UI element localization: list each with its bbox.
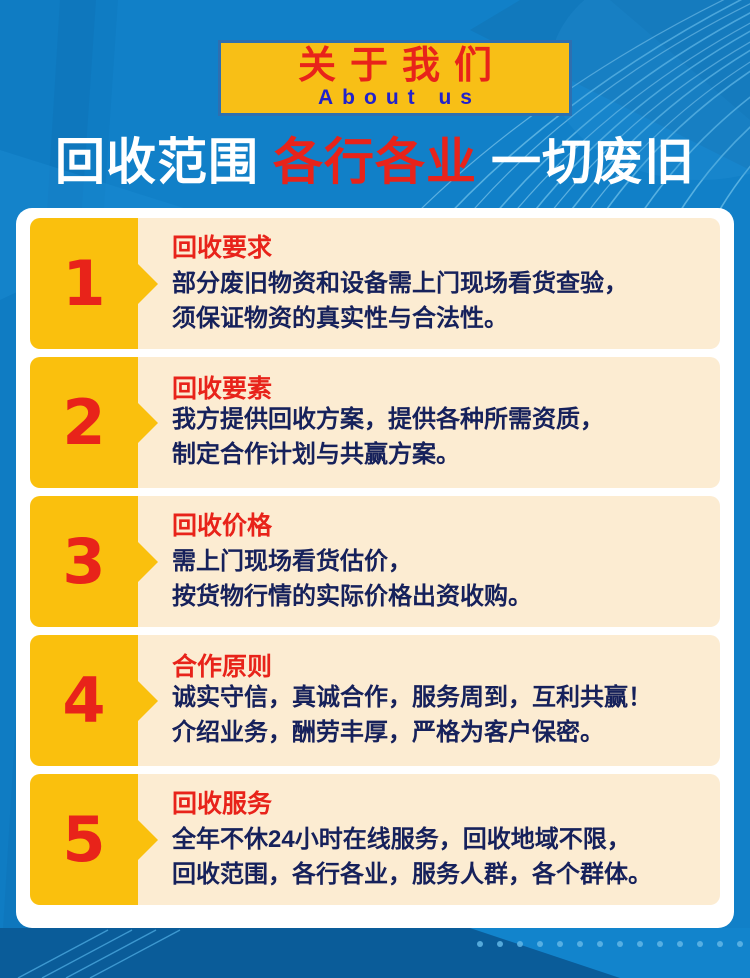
item-number: 3 — [62, 531, 105, 593]
headline-part-3: 一切废旧 — [491, 134, 695, 190]
item-body: 回收服务 全年不休24小时在线服务，回收地域不限， 回收范围，各行各业，服务人群… — [138, 774, 720, 905]
item-title: 回收价格 — [172, 510, 706, 543]
number-badge: 1 — [30, 218, 138, 349]
item-line: 诚实守信，真诚合作，服务周到，互利共赢！ — [172, 680, 706, 715]
list-item: 1 回收要求 部分废旧物资和设备需上门现场看货查验， 须保证物资的真实性与合法性… — [30, 218, 720, 349]
item-lines: 我方提供回收方案，提供各种所需资质， 制定合作计划与共赢方案。 — [172, 402, 706, 472]
item-body: 合作原则 诚实守信，真诚合作，服务周到，互利共赢！ 介绍业务，酬劳丰厚，严格为客… — [138, 635, 720, 766]
item-number: 1 — [62, 253, 105, 315]
item-number: 4 — [62, 670, 105, 732]
list-item: 3 回收价格 需上门现场看货估价， 按货物行情的实际价格出资收购。 — [30, 496, 720, 627]
items-list: 1 回收要求 部分废旧物资和设备需上门现场看货查验， 须保证物资的真实性与合法性… — [30, 218, 720, 905]
title-chinese: 关于我们 — [221, 44, 569, 88]
item-lines: 部分废旧物资和设备需上门现场看货查验， 须保证物资的真实性与合法性。 — [172, 266, 706, 336]
item-line: 须保证物资的真实性与合法性。 — [172, 301, 706, 336]
item-number: 5 — [62, 809, 105, 871]
list-item: 2 回收要素 我方提供回收方案，提供各种所需资质， 制定合作计划与共赢方案。 — [30, 357, 720, 488]
arrow-right-icon — [137, 680, 158, 722]
item-body: 回收要素 我方提供回收方案，提供各种所需资质， 制定合作计划与共赢方案。 — [138, 357, 720, 488]
item-line: 制定合作计划与共赢方案。 — [172, 437, 706, 472]
item-lines: 需上门现场看货估价， 按货物行情的实际价格出资收购。 — [172, 544, 706, 614]
list-item: 4 合作原则 诚实守信，真诚合作，服务周到，互利共赢！ 介绍业务，酬劳丰厚，严格… — [30, 635, 720, 766]
item-line: 部分废旧物资和设备需上门现场看货查验， — [172, 266, 706, 301]
item-line: 按货物行情的实际价格出资收购。 — [172, 579, 706, 614]
item-line: 我方提供回收方案，提供各种所需资质， — [172, 402, 706, 437]
number-badge: 4 — [30, 635, 138, 766]
page-headline: 回收范围各行各业一切废旧 — [0, 131, 750, 193]
item-body: 回收价格 需上门现场看货估价， 按货物行情的实际价格出资收购。 — [138, 496, 720, 627]
title-box: 关于我们 About us — [218, 40, 572, 116]
headline-part-1: 回收范围 — [55, 134, 259, 190]
item-body: 回收要求 部分废旧物资和设备需上门现场看货查验， 须保证物资的真实性与合法性。 — [138, 218, 720, 349]
number-badge: 5 — [30, 774, 138, 905]
item-lines: 全年不休24小时在线服务，回收地域不限， 回收范围，各行各业，服务人群，各个群体… — [172, 822, 706, 892]
item-line: 全年不休24小时在线服务，回收地域不限， — [172, 822, 706, 857]
item-title: 回收要求 — [172, 232, 706, 265]
about-us-poster: 关于我们 About us 回收范围各行各业一切废旧 1 回收要求 部分废旧物资… — [0, 0, 750, 978]
arrow-right-icon — [137, 263, 158, 305]
arrow-right-icon — [137, 819, 158, 861]
item-line: 介绍业务，酬劳丰厚，严格为客户保密。 — [172, 715, 706, 750]
item-lines: 诚实守信，真诚合作，服务周到，互利共赢！ 介绍业务，酬劳丰厚，严格为客户保密。 — [172, 680, 706, 750]
list-item: 5 回收服务 全年不休24小时在线服务，回收地域不限， 回收范围，各行各业，服务… — [30, 774, 720, 905]
number-badge: 2 — [30, 357, 138, 488]
headline-part-2: 各行各业 — [273, 134, 477, 190]
item-line: 回收范围，各行各业，服务人群，各个群体。 — [172, 857, 706, 892]
number-badge: 3 — [30, 496, 138, 627]
title-english: About us — [221, 86, 569, 110]
arrow-right-icon — [137, 402, 158, 444]
arrow-right-icon — [137, 541, 158, 583]
item-number: 2 — [62, 392, 105, 454]
items-card: 1 回收要求 部分废旧物资和设备需上门现场看货查验， 须保证物资的真实性与合法性… — [16, 208, 734, 928]
item-title: 回收服务 — [172, 788, 706, 821]
item-line: 需上门现场看货估价， — [172, 544, 706, 579]
